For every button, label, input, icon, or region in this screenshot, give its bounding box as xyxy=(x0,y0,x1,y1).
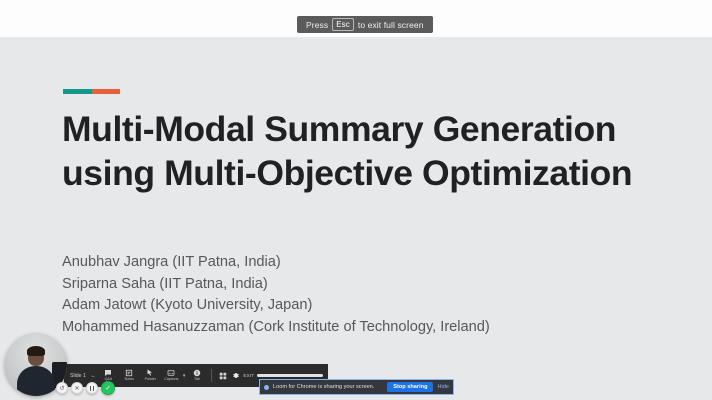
sharing-indicator-icon xyxy=(264,385,269,390)
toolbar-item-notes[interactable]: Notes xyxy=(119,369,140,382)
author-list: Anubhav Jangra (IIT Patna, India) Sripar… xyxy=(62,252,672,338)
pause-icon xyxy=(90,386,95,391)
author-line: Mohammed Hasanuzzaman (Cork Institute of… xyxy=(62,317,672,339)
toolbar-divider xyxy=(211,369,212,382)
check-icon: ✓ xyxy=(105,384,111,392)
captions-icon xyxy=(167,369,175,377)
toolbar-slider[interactable] xyxy=(257,374,323,377)
esc-key-badge: Esc xyxy=(332,18,354,31)
author-line: Anubhav Jangra (IIT Patna, India) xyxy=(62,252,672,274)
loom-recording-controls: ↺ ✕ ✓ xyxy=(56,381,115,395)
settings-button[interactable] xyxy=(229,370,242,381)
author-line: Sriparna Saha (IIT Patna, India) xyxy=(62,274,672,296)
share-message: Loom for Chrome is sharing your screen. xyxy=(273,384,383,390)
title-accent-bar xyxy=(63,89,120,94)
cancel-recording-button[interactable]: ✕ xyxy=(71,382,83,394)
pointer-icon xyxy=(146,369,154,377)
author-line: Adam Jatowt (Kyoto University, Japan) xyxy=(62,295,672,317)
toolbar-label-notes: Notes xyxy=(125,377,134,382)
toolbar-item-tab[interactable]: Tab xyxy=(186,369,207,382)
toast-prefix-text: Press xyxy=(306,20,328,30)
finish-recording-button[interactable]: ✓ xyxy=(101,381,115,395)
webcam-person-hair xyxy=(27,346,45,356)
restart-recording-button[interactable]: ↺ xyxy=(56,382,68,394)
fullscreen-exit-toast: Press Esc to exit full screen xyxy=(297,16,433,33)
presentation-slide: Multi-Modal Summary Generation using Mul… xyxy=(0,37,712,400)
title-line-2: using Multi-Objective Optimization xyxy=(62,151,662,195)
chevron-down-icon[interactable]: ▾ xyxy=(183,373,186,379)
toast-suffix-text: to exit full screen xyxy=(358,20,424,30)
webcam-person-body xyxy=(17,366,55,396)
accent-segment-teal xyxy=(63,89,92,94)
accent-segment-orange xyxy=(92,89,121,94)
slide-counter: Slide 1 xyxy=(70,373,86,379)
screen-share-bar: Loom for Chrome is sharing your screen. … xyxy=(259,379,454,395)
stop-sharing-button[interactable]: Stop sharing xyxy=(387,382,433,392)
info-icon xyxy=(193,369,201,377)
title-line-1: Multi-Modal Summary Generation xyxy=(62,107,662,151)
toolbar-item-pointer[interactable]: Pointer xyxy=(140,369,161,382)
exit-label[interactable]: EXIT xyxy=(243,373,254,378)
toolbar-label-tab: Tab xyxy=(194,377,200,382)
previous-slide-arrow[interactable]: ← xyxy=(89,373,98,379)
grid-icon xyxy=(219,372,227,380)
pause-recording-button[interactable] xyxy=(86,382,98,394)
browser-top-strip: Press Esc to exit full screen xyxy=(0,0,712,37)
notes-icon xyxy=(125,369,133,377)
restart-icon: ↺ xyxy=(59,385,64,392)
toolbar-item-captions[interactable]: Captions xyxy=(161,369,182,382)
close-icon: ✕ xyxy=(74,385,79,392)
slide-title: Multi-Modal Summary Generation using Mul… xyxy=(62,107,662,195)
grid-view-button[interactable] xyxy=(216,370,229,381)
qa-icon xyxy=(104,369,112,377)
hide-button[interactable]: Hide xyxy=(437,384,449,390)
gear-icon xyxy=(231,371,240,380)
toolbar-label-pointer: Pointer xyxy=(145,377,156,382)
toolbar-label-captions: Captions xyxy=(164,377,178,382)
